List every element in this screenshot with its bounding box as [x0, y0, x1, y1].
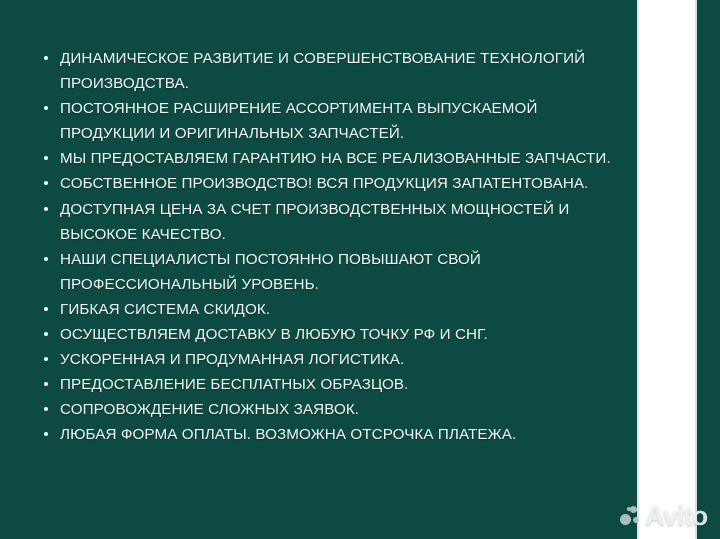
list-item-label: ЛЮБАЯ ФОРМА ОПЛАТЫ. ВОЗМОЖНА ОТСРОЧКА ПЛ…: [60, 422, 620, 447]
list-item: ПРЕДОСТАВЛЕНИЕ БЕСПЛАТНЫХ ОБРАЗЦОВ.: [40, 372, 620, 397]
list-item-label: СОБСТВЕННОЕ ПРОИЗВОДСТВО! ВСЯ ПРОДУКЦИЯ …: [60, 171, 620, 196]
bullet-dot-icon: [44, 357, 48, 361]
bullet-dot-icon: [44, 332, 48, 336]
list-item-label: ДИНАМИЧЕСКОЕ РАЗВИТИЕ И СОВЕРШЕНСТВОВАНИ…: [60, 46, 620, 96]
list-item: ДОСТУПНАЯ ЦЕНА ЗА СЧЕТ ПРОИЗВОДСТВЕННЫХ …: [40, 197, 620, 247]
bullet-dot-icon: [44, 56, 48, 60]
avito-watermark: Avito: [620, 499, 716, 533]
list-item-label: МЫ ПРЕДОСТАВЛЯЕМ ГАРАНТИЮ НА ВСЕ РЕАЛИЗО…: [60, 146, 620, 171]
bullet-dot-icon: [44, 106, 48, 110]
list-item-label: НАШИ СПЕЦИАЛИСТЫ ПОСТОЯННО ПОВЫШАЮТ СВОЙ…: [60, 247, 620, 297]
list-item: МЫ ПРЕДОСТАВЛЯЕМ ГАРАНТИЮ НА ВСЕ РЕАЛИЗО…: [40, 146, 620, 171]
bullet-dot-icon: [44, 307, 48, 311]
benefits-bullet-list: ДИНАМИЧЕСКОЕ РАЗВИТИЕ И СОВЕРШЕНСТВОВАНИ…: [40, 46, 620, 448]
list-item: СОБСТВЕННОЕ ПРОИЗВОДСТВО! ВСЯ ПРОДУКЦИЯ …: [40, 171, 620, 196]
bullet-dot-icon: [44, 432, 48, 436]
list-item: ДИНАМИЧЕСКОЕ РАЗВИТИЕ И СОВЕРШЕНСТВОВАНИ…: [40, 46, 620, 96]
list-item: УСКОРЕННАЯ И ПРОДУМАННАЯ ЛОГИСТИКА.: [40, 347, 620, 372]
list-item-label: ОСУЩЕСТВЛЯЕМ ДОСТАВКУ В ЛЮБУЮ ТОЧКУ РФ И…: [60, 322, 620, 347]
bullet-dot-icon: [44, 207, 48, 211]
list-item: НАШИ СПЕЦИАЛИСТЫ ПОСТОЯННО ПОВЫШАЮТ СВОЙ…: [40, 247, 620, 297]
bullet-dot-icon: [44, 181, 48, 185]
list-item-label: УСКОРЕННАЯ И ПРОДУМАННАЯ ЛОГИСТИКА.: [60, 347, 620, 372]
stripe-right-edge: [695, 0, 697, 539]
list-item-label: СОПРОВОЖДЕНИЕ СЛОЖНЫХ ЗАЯВОК.: [60, 397, 620, 422]
slide-canvas: ДИНАМИЧЕСКОЕ РАЗВИТИЕ И СОВЕРШЕНСТВОВАНИ…: [0, 0, 720, 539]
list-item-label: ПОСТОЯННОЕ РАСШИРЕНИЕ АССОРТИМЕНТА ВЫПУС…: [60, 96, 620, 146]
bullet-dot-icon: [44, 257, 48, 261]
avito-dots-icon: [620, 504, 644, 528]
avito-wordmark-label: Avito: [645, 503, 708, 530]
bullet-dot-icon: [44, 382, 48, 386]
list-item: ПОСТОЯННОЕ РАСШИРЕНИЕ АССОРТИМЕНТА ВЫПУС…: [40, 96, 620, 146]
list-item-label: ПРЕДОСТАВЛЕНИЕ БЕСПЛАТНЫХ ОБРАЗЦОВ.: [60, 372, 620, 397]
right-white-stripe: [639, 0, 695, 539]
list-item-label: ГИБКАЯ СИСТЕМА СКИДОК.: [60, 297, 620, 322]
list-item: ОСУЩЕСТВЛЯЕМ ДОСТАВКУ В ЛЮБУЮ ТОЧКУ РФ И…: [40, 322, 620, 347]
bullet-dot-icon: [44, 407, 48, 411]
list-item: ГИБКАЯ СИСТЕМА СКИДОК.: [40, 297, 620, 322]
list-item: СОПРОВОЖДЕНИЕ СЛОЖНЫХ ЗАЯВОК.: [40, 397, 620, 422]
bullet-dot-icon: [44, 156, 48, 160]
list-item-label: ДОСТУПНАЯ ЦЕНА ЗА СЧЕТ ПРОИЗВОДСТВЕННЫХ …: [60, 197, 620, 247]
list-item: ЛЮБАЯ ФОРМА ОПЛАТЫ. ВОЗМОЖНА ОТСРОЧКА ПЛ…: [40, 422, 620, 447]
